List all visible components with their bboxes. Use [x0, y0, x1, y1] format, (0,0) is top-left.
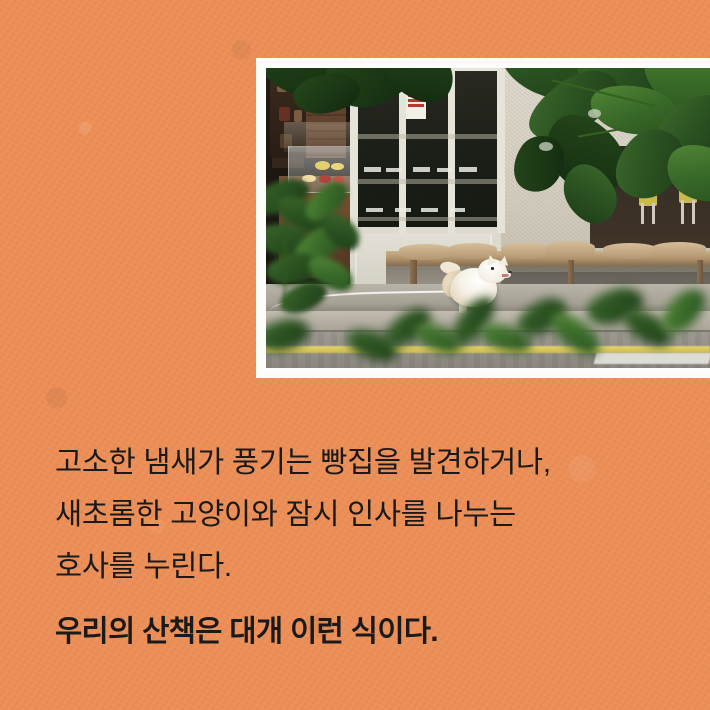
- price-tag: [395, 208, 411, 212]
- pastry-icon: [302, 175, 315, 183]
- window-sign: [406, 92, 426, 119]
- pastry-icon: [315, 161, 330, 170]
- price-tag: [437, 168, 452, 172]
- price-tag: [450, 208, 465, 212]
- story-card: 고소한 냄새가 풍기는 빵집을 발견하거나, 새초롬한 고양이와 잠시 인사를 …: [0, 0, 710, 710]
- dog-eye: [491, 267, 495, 269]
- caption-line-3: 호사를 누린다.: [55, 541, 675, 593]
- round-tray: [399, 244, 452, 261]
- jar-icon: [279, 107, 290, 121]
- display-shelf-line: [357, 217, 497, 221]
- pastry-icon: [319, 175, 331, 182]
- caption-line-1: 고소한 냄새가 풍기는 빵집을 발견하거나,: [55, 437, 675, 489]
- price-tag: [386, 168, 402, 173]
- jar-icon: [290, 82, 299, 93]
- storefront-dog-photo: [266, 68, 710, 368]
- display-shelf-line: [357, 134, 497, 139]
- caption-text-block: 고소한 냄새가 풍기는 빵집을 발견하거나, 새초롬한 고양이와 잠시 인사를 …: [55, 437, 675, 658]
- display-shelf-line: [357, 179, 497, 184]
- price-tag: [421, 208, 438, 213]
- caption-emphasis-line: 우리의 산책은 대개 이런 식이다.: [55, 606, 675, 658]
- price-tag: [413, 167, 431, 172]
- round-tray: [546, 241, 595, 258]
- door-glass-pane: [357, 71, 399, 227]
- round-tray: [652, 242, 705, 258]
- chair-leg: [652, 203, 655, 224]
- dog-ear: [498, 255, 509, 266]
- price-tag: [366, 208, 383, 213]
- door-glass-pane: [455, 71, 497, 227]
- photo-frame: [256, 58, 710, 378]
- chair-leg: [641, 203, 644, 224]
- jar-icon: [294, 110, 303, 122]
- round-tray: [603, 243, 656, 259]
- crosswalk-stripe: [593, 353, 710, 364]
- jar-icon: [277, 80, 287, 92]
- chair-leg: [692, 200, 695, 224]
- window-mullion: [350, 68, 358, 233]
- chair-leg: [681, 200, 684, 224]
- price-tag: [459, 167, 477, 172]
- pastry-icon: [333, 176, 344, 183]
- price-tag: [364, 167, 382, 172]
- window-mullion: [497, 68, 505, 233]
- dog-nose-icon: [508, 271, 512, 274]
- caption-line-2: 새초롬한 고양이와 잠시 인사를 나누는: [55, 489, 675, 541]
